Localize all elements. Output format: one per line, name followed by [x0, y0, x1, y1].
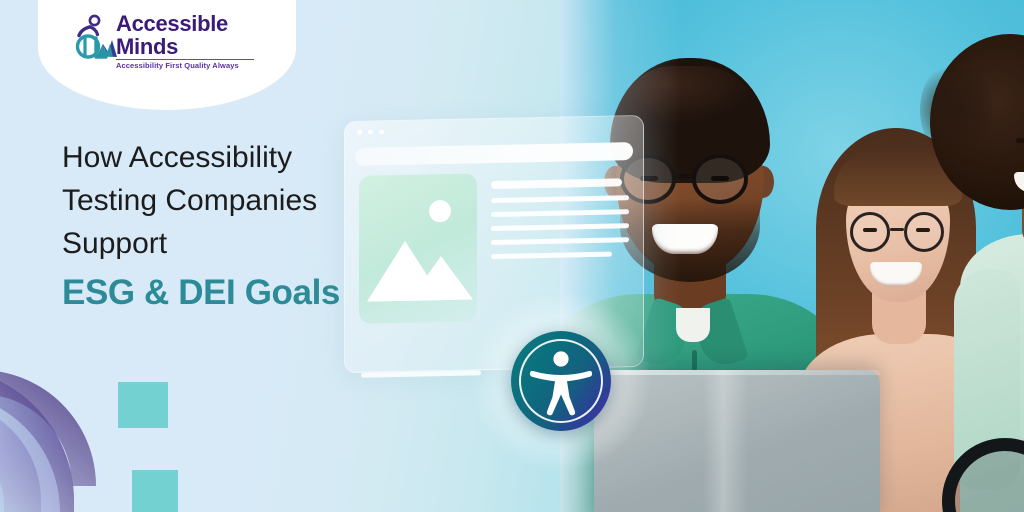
decoration-svg: [0, 352, 178, 512]
logo-tagline: Accessibility First Quality Always: [116, 61, 268, 70]
dot-icon: [368, 130, 373, 135]
mockup-heading-line: [491, 178, 622, 189]
decoration-square: [118, 382, 168, 428]
person-3-eye: [1016, 138, 1024, 143]
person-2-glasses-left: [850, 212, 890, 252]
dot-icon: [357, 130, 362, 135]
logo-wordmark: Accessible Minds Accessibility First Qua…: [116, 12, 268, 70]
person-woman-afro-wheelchair: [936, 34, 1024, 512]
logo-line-1: Accessible: [116, 12, 268, 35]
accessibility-badge: [498, 318, 624, 444]
headline-line-1: How Accessibility: [62, 136, 422, 179]
person-2-eye-left: [863, 228, 877, 232]
mockup-footer-line: [361, 370, 481, 378]
headline-accent: ESG & DEI Goals: [62, 269, 422, 317]
mockup-window-dots: [357, 129, 384, 135]
logo-divider: [116, 59, 254, 60]
logo-line-2: Minds: [116, 35, 268, 58]
headline-line-3: Support: [62, 222, 422, 265]
decoration-square: [132, 470, 178, 512]
dot-icon: [379, 129, 384, 134]
person-1-smile: [652, 224, 718, 254]
logo[interactable]: Accessible Minds Accessibility First Qua…: [66, 12, 266, 82]
person-2-glasses-bridge: [890, 228, 904, 231]
person-1-eye-right: [711, 176, 729, 181]
sun-icon: [429, 200, 451, 222]
mockup-body-line: [491, 209, 629, 217]
mockup-body-line: [491, 252, 612, 260]
mockup-body-line: [491, 223, 629, 231]
mockup-body-line: [491, 237, 629, 245]
blog-banner: Accessible Minds Accessibility First Qua…: [0, 0, 1024, 512]
person-1-glasses-bridge: [676, 174, 694, 178]
person-2-eye-right: [916, 228, 930, 232]
mockup-body-line: [491, 195, 629, 203]
person-1-undershirt: [676, 308, 710, 342]
headline-line-2: Testing Companies: [62, 179, 422, 222]
concentric-arcs-decoration: [0, 352, 178, 512]
headline: How Accessibility Testing Companies Supp…: [62, 136, 422, 317]
accessible-minds-wheelchair-mark: [66, 14, 118, 62]
badge-circle: [511, 331, 611, 431]
person-3-hair: [930, 34, 1024, 210]
universal-access-icon: [511, 331, 611, 431]
